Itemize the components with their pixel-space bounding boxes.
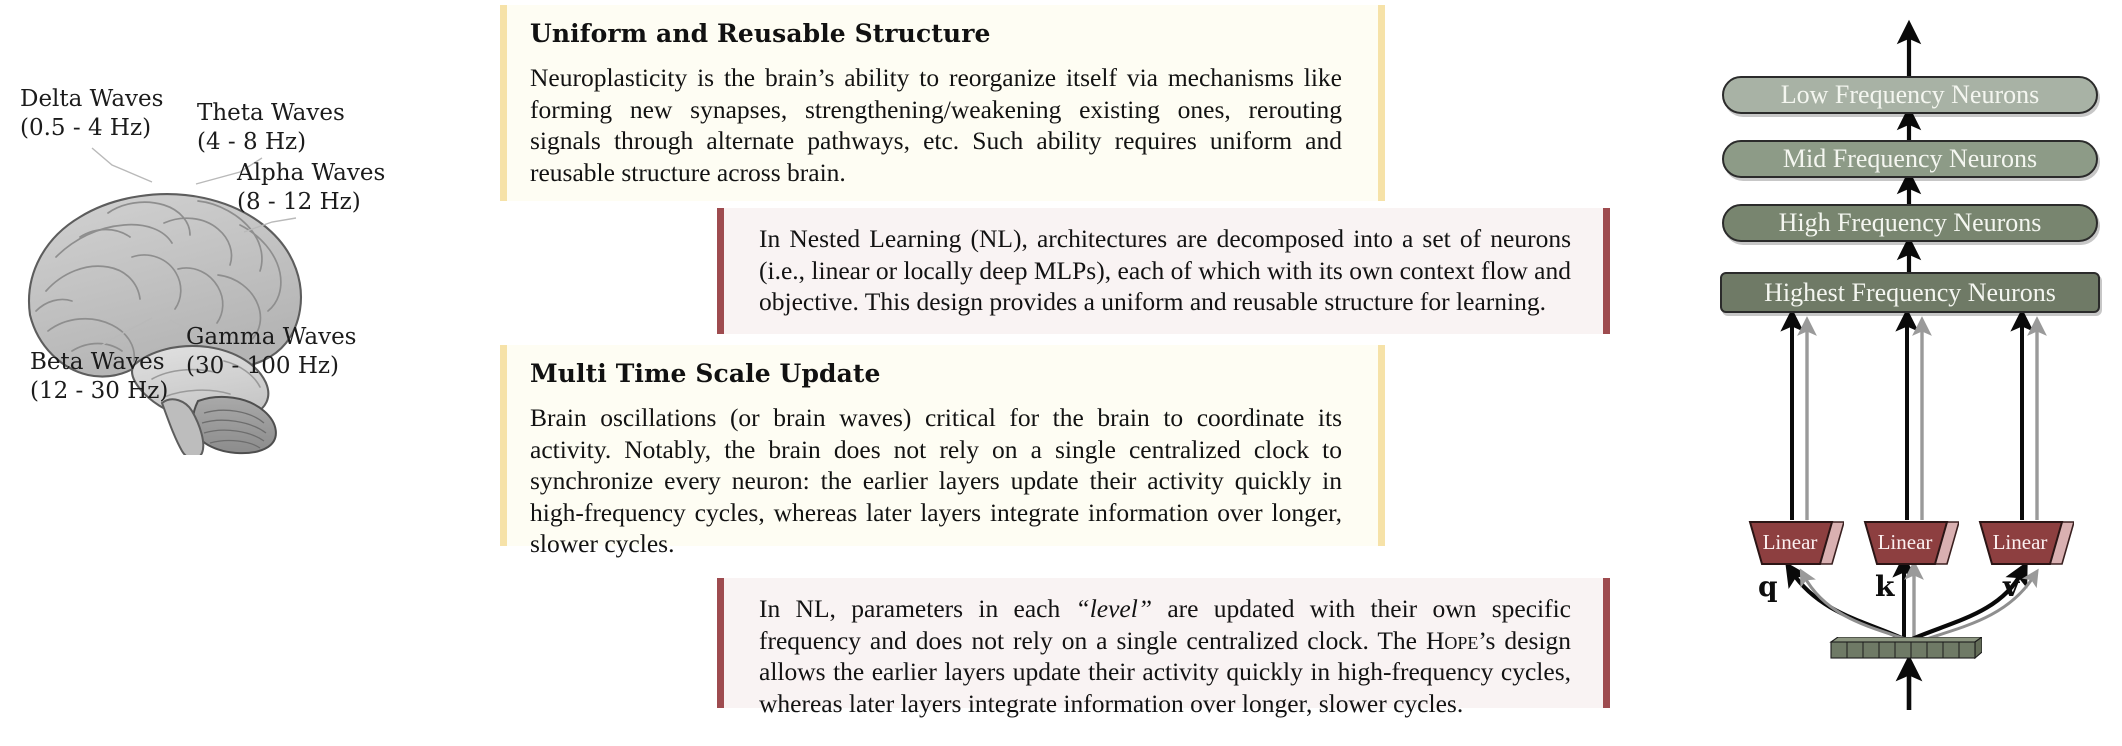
callout-nested-learning-levels: In NL, parameters in each “level” are up… (717, 578, 1610, 708)
linear-projection-k[interactable]: Linear (1863, 520, 1959, 564)
brain-label-theta-range: (4 - 8 Hz) (197, 128, 345, 157)
brain-label-alpha: Alpha Waves (8 - 12 Hz) (237, 159, 385, 217)
brain-label-alpha-title: Alpha Waves (237, 160, 385, 186)
neuron-box-high-frequency-label: High Frequency Neurons (1779, 208, 2042, 238)
figure-root: Delta Waves (0.5 - 4 Hz) Theta Waves (4 … (0, 0, 2122, 746)
brain-panel: Delta Waves (0.5 - 4 Hz) Theta Waves (4 … (0, 0, 500, 746)
callout-accent-bar-right (1603, 208, 1610, 334)
callout-accent-bar-left (717, 578, 724, 708)
token-fanout-curves-gray (1804, 576, 2034, 642)
brain-label-gamma-title: Gamma Waves (186, 324, 357, 350)
brain-label-theta-title: Theta Waves (197, 100, 345, 126)
neuron-box-highest-frequency[interactable]: Highest Frequency Neurons (1720, 272, 2100, 313)
brain-label-alpha-range: (8 - 12 Hz) (237, 188, 385, 217)
neuron-box-mid-frequency-label: Mid Frequency Neurons (1783, 144, 2037, 174)
callout-nested-learning-structure: In Nested Learning (NL), architectures a… (717, 208, 1610, 334)
callout-body-text-1: In NL, parameters in each (759, 594, 1076, 623)
value-symbol: v (2003, 570, 2019, 603)
callout-body-multi-time-scale-update: Brain oscillations (or brain waves) crit… (530, 402, 1342, 560)
brain-label-gamma: Gamma Waves (30 - 100 Hz) (186, 323, 357, 381)
neuron-box-mid-frequency[interactable]: Mid Frequency Neurons (1722, 140, 2098, 178)
trapezoid-shape (1748, 520, 1844, 566)
brain-label-delta: Delta Waves (0.5 - 4 Hz) (20, 85, 163, 143)
callout-multi-time-scale-update: Multi Time Scale Update Brain oscillatio… (500, 345, 1385, 546)
callout-accent-bar-right (1378, 5, 1385, 201)
callout-accent-bar-right (1378, 345, 1385, 546)
neuron-box-low-frequency-label: Low Frequency Neurons (1781, 80, 2040, 110)
brain-label-beta: Beta Waves (12 - 30 Hz) (30, 348, 168, 406)
key-symbol: k (1875, 570, 1894, 603)
callout-body-emphasis-level: “level” (1076, 594, 1153, 623)
brain-label-delta-range: (0.5 - 4 Hz) (20, 114, 163, 143)
callout-body-nested-learning-structure: In Nested Learning (NL), architectures a… (759, 223, 1571, 318)
brain-label-delta-title: Delta Waves (20, 86, 163, 112)
qkv-riser-arrows-gray (1807, 326, 2037, 520)
callout-accent-bar-left (717, 208, 724, 334)
architecture-diagram: Low Frequency Neurons Mid Frequency Neur… (1700, 0, 2122, 746)
brain-label-theta: Theta Waves (4 - 8 Hz) (197, 99, 345, 157)
input-token-sequence[interactable] (1827, 637, 1982, 659)
neuron-box-low-frequency[interactable]: Low Frequency Neurons (1722, 76, 2098, 114)
callout-title-uniform-structure: Uniform and Reusable Structure (530, 19, 990, 48)
trapezoid-shape (1978, 520, 2074, 566)
callout-title-multi-time-scale-update: Multi Time Scale Update (530, 359, 881, 388)
linear-projection-v[interactable]: Linear (1978, 520, 2074, 564)
brain-label-beta-title: Beta Waves (30, 349, 165, 375)
query-symbol: q (1758, 570, 1778, 603)
brain-label-beta-range: (12 - 30 Hz) (30, 377, 168, 406)
token-fanout-curves-black (1792, 572, 2022, 640)
callout-body-nested-learning-levels: In NL, parameters in each “level” are up… (759, 593, 1571, 719)
trapezoid-shape (1863, 520, 1959, 566)
linear-projection-q[interactable]: Linear (1748, 520, 1844, 564)
brain-label-gamma-range: (30 - 100 Hz) (186, 352, 357, 381)
qkv-riser-arrows-black (1792, 320, 2022, 520)
callout-accent-bar-left (500, 5, 507, 201)
neuron-box-highest-frequency-label: Highest Frequency Neurons (1764, 278, 2056, 308)
callout-accent-bar-right (1603, 578, 1610, 708)
callout-body-smallcaps-hope: Hope (1426, 626, 1478, 655)
neuron-box-high-frequency[interactable]: High Frequency Neurons (1722, 204, 2098, 242)
callout-uniform-structure: Uniform and Reusable Structure Neuroplas… (500, 5, 1385, 201)
callout-body-uniform-structure: Neuroplasticity is the brain’s ability t… (530, 62, 1342, 188)
callout-accent-bar-left (500, 345, 507, 546)
